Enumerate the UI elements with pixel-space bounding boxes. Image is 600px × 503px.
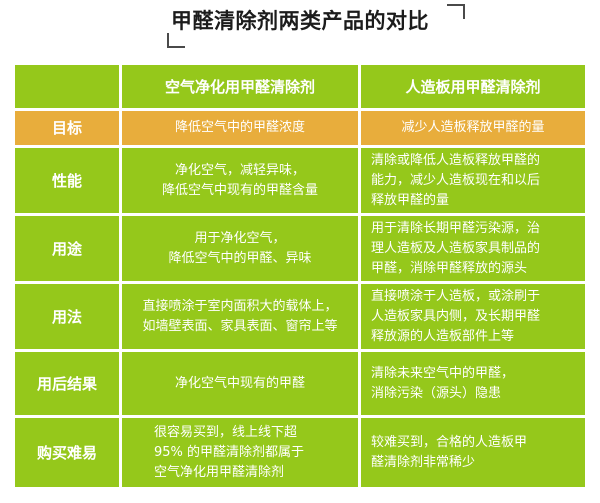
cell-col-b-text: 直接喷涂于人造板，或涂刷于人造板家具内侧，及长期甲醛释放源的人造板部件上等 <box>361 287 585 347</box>
text-line: 醛清除剂非常稀少 <box>371 453 575 473</box>
cell-col-b-text: 清除未来空气中的甲醛，消除污染（源头）隐患 <box>361 364 585 404</box>
cell-col-a-text: 很容易买到，线上线下超95% 的甲醛清除剂都属于空气净化用甲醛清除剂 <box>122 423 358 483</box>
cell-col-b: 清除或降低人造板释放甲醛的能力，减少人造板现在和以后释放甲醛的量 <box>361 148 585 213</box>
text-line: 释放源的人造板部件上等 <box>371 327 575 347</box>
cell-col-b: 直接喷涂于人造板，或涂刷于人造板家具内侧，及长期甲醛释放源的人造板部件上等 <box>361 284 585 349</box>
cell-col-a-text: 直接喷涂于室内面积大的载体上，如墙壁表面、家具表面、窗帘上等 <box>122 297 358 337</box>
cell-col-a: 净化空气，减轻异味，降低空气中现有的甲醛含量 <box>122 148 358 213</box>
title-area: 甲醛清除剂两类产品的对比 <box>0 0 600 62</box>
text-line: 人造板家具内侧，及长期甲醛 <box>371 307 575 327</box>
cell-col-b: 清除未来空气中的甲醛，消除污染（源头）隐患 <box>361 352 585 415</box>
row-label-cell: 用途 <box>15 216 119 281</box>
text-line: 直接喷涂于人造板，或涂刷于 <box>371 287 575 307</box>
row-label-text: 目标 <box>15 118 119 138</box>
text-line: 空气净化用甲醛清除剂 <box>154 463 348 483</box>
cell-col-a-text: 净化空气中现有的甲醛 <box>122 374 358 394</box>
cell-col-b: 用于清除长期甲醛污染源，治理人造板及人造板家具制品的甲醛，消除甲醛释放的源头 <box>361 216 585 281</box>
table-row: 用途用于净化空气，降低空气中的甲醛、异味用于清除长期甲醛污染源，治理人造板及人造… <box>15 216 585 281</box>
row-label-cell: 用法 <box>15 284 119 349</box>
text-line: 较难买到，合格的人造板甲 <box>371 433 575 453</box>
text-line: 清除未来空气中的甲醛， <box>371 364 575 384</box>
row-label-cell: 购买难易 <box>15 418 119 487</box>
header-cell-col-a: 空气净化用甲醛清除剂 <box>122 65 358 108</box>
text-line: 理人造板及人造板家具制品的 <box>371 239 575 259</box>
comparison-table: 空气净化用甲醛清除剂人造板用甲醛清除剂目标降低空气中的甲醛浓度减少人造板释放甲醛… <box>12 62 588 490</box>
text-line: 清除或降低人造板释放甲醛的 <box>371 151 575 171</box>
text-line: 净化空气中现有的甲醛 <box>130 374 350 394</box>
cell-col-b: 较难买到，合格的人造板甲醛清除剂非常稀少 <box>361 418 585 487</box>
row-label-text: 用法 <box>15 307 119 327</box>
row-label-text: 性能 <box>15 171 119 191</box>
text-line: 净化空气，减轻异味， <box>130 161 350 181</box>
text-line: 释放甲醛的量 <box>371 191 575 211</box>
cell-col-a: 降低空气中的甲醛浓度 <box>122 111 358 145</box>
row-label-cell: 性能 <box>15 148 119 213</box>
row-label-text: 用途 <box>15 239 119 259</box>
text-line: 能力，减少人造板现在和以后 <box>371 171 575 191</box>
cell-col-b-text: 较难买到，合格的人造板甲醛清除剂非常稀少 <box>361 433 585 473</box>
cell-col-a: 很容易买到，线上线下超95% 的甲醛清除剂都属于空气净化用甲醛清除剂 <box>122 418 358 487</box>
text-line: 降低空气中的甲醛浓度 <box>130 118 350 138</box>
cell-col-a: 用于净化空气，降低空气中的甲醛、异味 <box>122 216 358 281</box>
text-line: 消除污染（源头）隐患 <box>371 384 575 404</box>
cell-col-a-text: 降低空气中的甲醛浓度 <box>122 118 358 138</box>
page-title: 甲醛清除剂两类产品的对比 <box>0 7 600 35</box>
table-row: 购买难易很容易买到，线上线下超95% 的甲醛清除剂都属于空气净化用甲醛清除剂较难… <box>15 418 585 487</box>
row-label-cell: 目标 <box>15 111 119 145</box>
cell-col-a-text: 用于净化空气，降低空气中的甲醛、异味 <box>122 229 358 269</box>
header-col-b-label: 人造板用甲醛清除剂 <box>361 77 585 97</box>
text-line: 减少人造板释放甲醛的量 <box>369 118 577 138</box>
header-cell-col-b: 人造板用甲醛清除剂 <box>361 65 585 108</box>
table-row: 用后结果净化空气中现有的甲醛清除未来空气中的甲醛，消除污染（源头）隐患 <box>15 352 585 415</box>
header-cell-corner <box>15 65 119 108</box>
cell-col-b-text: 减少人造板释放甲醛的量 <box>361 118 585 138</box>
text-line: 降低空气中现有的甲醛含量 <box>130 181 350 201</box>
cell-col-a: 净化空气中现有的甲醛 <box>122 352 358 415</box>
cell-col-a: 直接喷涂于室内面积大的载体上，如墙壁表面、家具表面、窗帘上等 <box>122 284 358 349</box>
text-line: 直接喷涂于室内面积大的载体上， <box>130 297 350 317</box>
text-line: 用于清除长期甲醛污染源，治 <box>371 219 575 239</box>
header-col-a-label: 空气净化用甲醛清除剂 <box>122 77 358 97</box>
cell-col-b: 减少人造板释放甲醛的量 <box>361 111 585 145</box>
cell-col-b-text: 用于清除长期甲醛污染源，治理人造板及人造板家具制品的甲醛，消除甲醛释放的源头 <box>361 219 585 279</box>
table-header-row: 空气净化用甲醛清除剂人造板用甲醛清除剂 <box>15 65 585 108</box>
cell-col-a-text: 净化空气，减轻异味，降低空气中现有的甲醛含量 <box>122 161 358 201</box>
row-label-text: 用后结果 <box>15 374 119 394</box>
corner-bracket-bottom-left-icon <box>167 33 185 48</box>
table-row: 目标降低空气中的甲醛浓度减少人造板释放甲醛的量 <box>15 111 585 145</box>
table-row: 用法直接喷涂于室内面积大的载体上，如墙壁表面、家具表面、窗帘上等直接喷涂于人造板… <box>15 284 585 349</box>
row-label-text: 购买难易 <box>15 443 119 463</box>
row-label-cell: 用后结果 <box>15 352 119 415</box>
text-line: 用于净化空气， <box>130 229 350 249</box>
text-line: 如墙壁表面、家具表面、窗帘上等 <box>130 317 350 337</box>
cell-col-b-text: 清除或降低人造板释放甲醛的能力，减少人造板现在和以后释放甲醛的量 <box>361 151 585 211</box>
text-line: 降低空气中的甲醛、异味 <box>130 249 350 269</box>
table-row: 性能净化空气，减轻异味，降低空气中现有的甲醛含量清除或降低人造板释放甲醛的能力，… <box>15 148 585 213</box>
text-line: 95% 的甲醛清除剂都属于 <box>154 443 348 463</box>
text-line: 甲醛，消除甲醛释放的源头 <box>371 259 575 279</box>
text-line: 很容易买到，线上线下超 <box>154 423 348 443</box>
